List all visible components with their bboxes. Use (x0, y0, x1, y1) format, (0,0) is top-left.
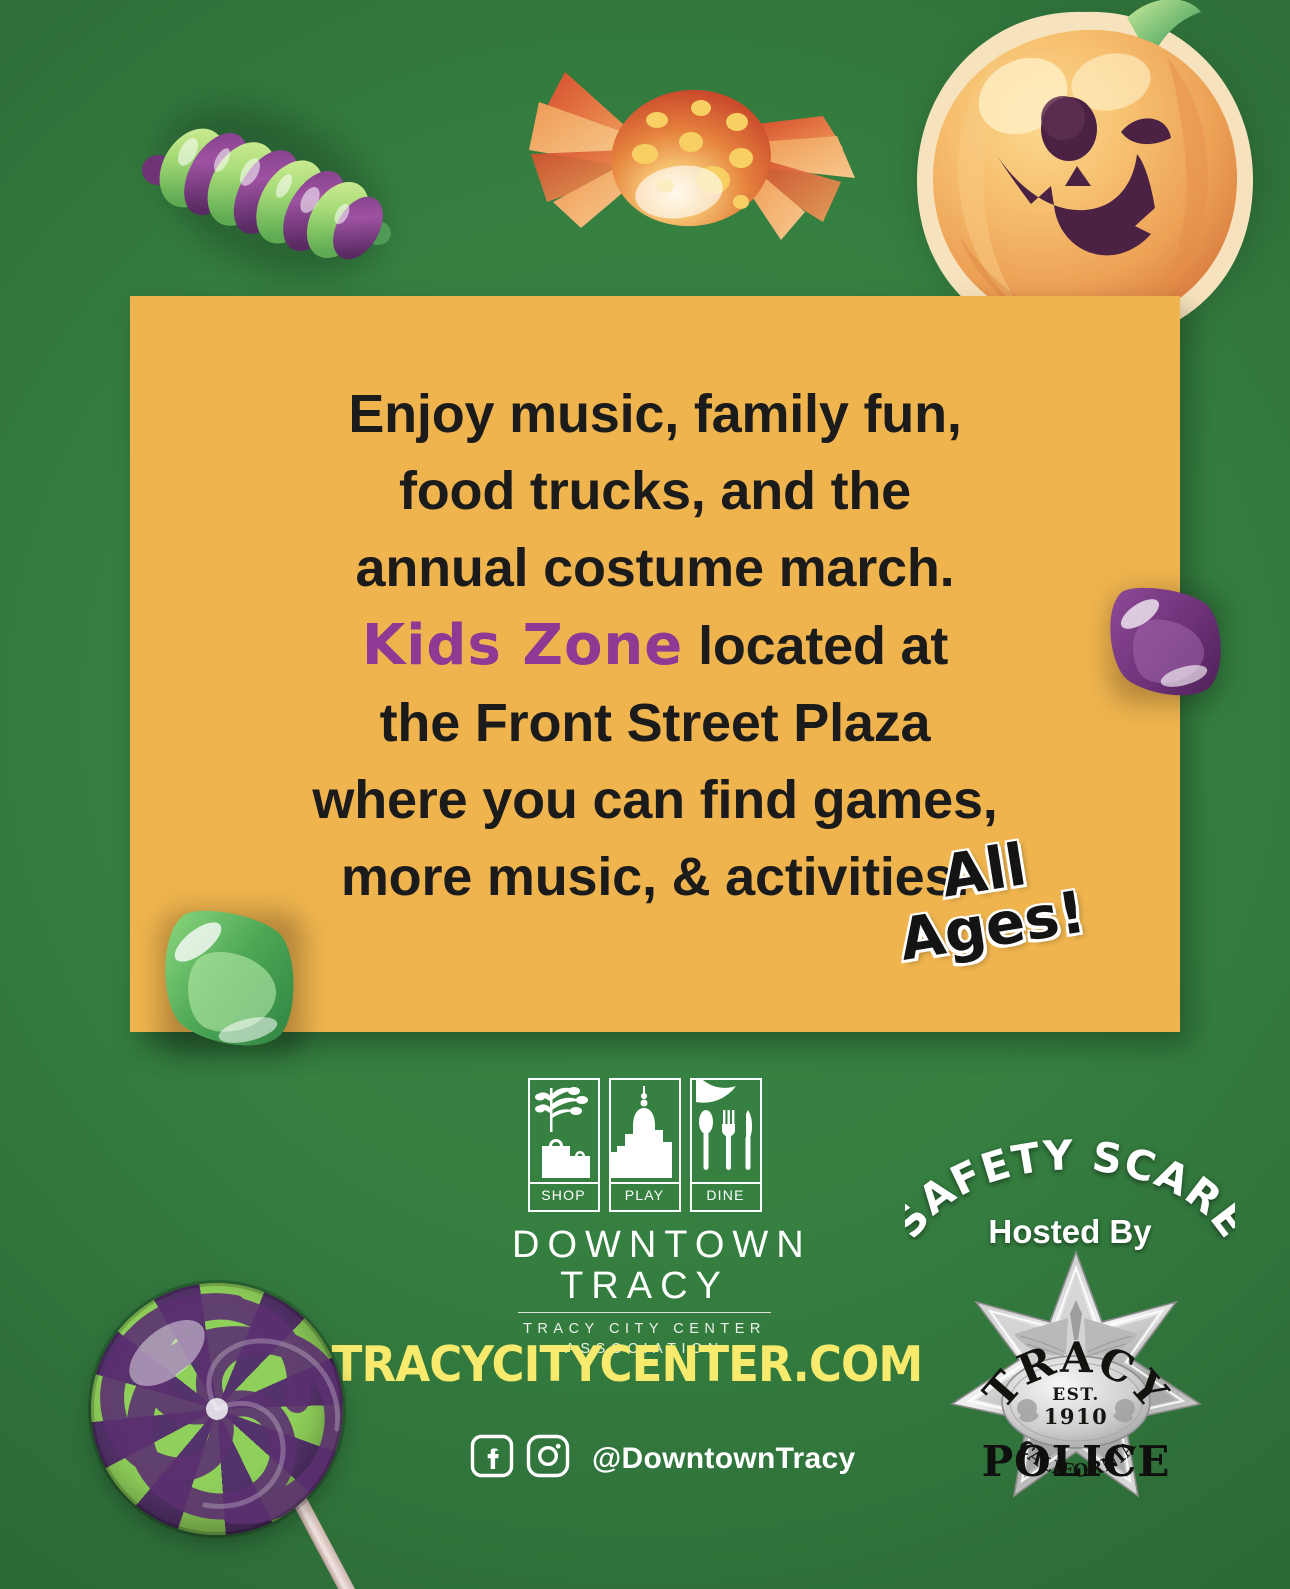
shop-play-dine-icons: SHOP (512, 1078, 777, 1212)
description-line-6: where you can find games, (182, 762, 1128, 839)
description-line-3: annual costume march. (182, 530, 1128, 607)
wrapped-candy-icon (505, 62, 875, 252)
kids-zone-line: Kids Zone located at (182, 607, 1128, 685)
logo-caption-dine: DINE (690, 1182, 762, 1212)
social-links: @DowntownTracy (470, 1434, 855, 1483)
badge-est-year: 1910 (1044, 1404, 1108, 1429)
tree-shopping-bags-icon (528, 1078, 600, 1182)
logo-caption-play: PLAY (609, 1182, 681, 1212)
description-line-1: Enjoy music, family fun, (182, 376, 1128, 453)
description-line-5: the Front Street Plaza (182, 685, 1128, 762)
facebook-icon[interactable] (470, 1434, 514, 1483)
downtown-tracy-logo: SHOP (512, 1078, 777, 1359)
safety-scare-section: SAFETY SCARE Hosted By (905, 1130, 1235, 1470)
swirl-lollipop-icon (75, 1265, 405, 1589)
logo-tile-play: PLAY (609, 1078, 681, 1212)
badge-department: POLICE (982, 1437, 1171, 1486)
instagram-icon[interactable] (526, 1434, 570, 1483)
logo-tile-dine: DINE (690, 1078, 762, 1212)
city-buildings-icon (609, 1078, 681, 1182)
description-line-2: food trucks, and the (182, 453, 1128, 530)
twist-candy-icon (138, 78, 400, 293)
logo-divider (518, 1312, 771, 1313)
spoon-fork-knife-icon (690, 1078, 762, 1182)
hosted-by-label: Hosted By (905, 1213, 1235, 1251)
kids-zone-label: Kids Zone (362, 613, 683, 678)
badge-est-label: EST. (1052, 1385, 1100, 1405)
logo-caption-shop: SHOP (528, 1182, 600, 1212)
tracy-police-badge: TRACY EST. 1910 CALIFORNIA POLICE (941, 1248, 1211, 1510)
logo-word-tracy: TRACY (512, 1265, 777, 1307)
halloween-event-flyer: Enjoy music, family fun, food trucks, an… (0, 0, 1290, 1589)
info-card: Enjoy music, family fun, food trucks, an… (130, 296, 1180, 1032)
logo-word-downtown: DOWNTOWN (512, 1225, 777, 1265)
logo-tile-shop: SHOP (528, 1078, 600, 1212)
kids-zone-suffix: located at (683, 616, 948, 676)
social-handle: @DowntownTracy (592, 1442, 855, 1476)
